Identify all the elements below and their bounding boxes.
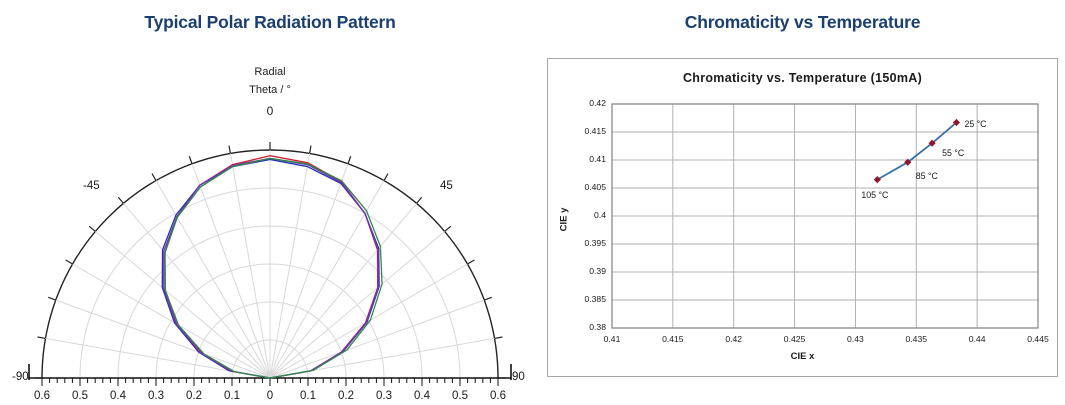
polar-radius-tick-11: 0.5 [445, 390, 475, 402]
polar-plot: Radial Theta / ° 0 -45 45 -90 90 0.60.50… [0, 50, 540, 405]
page-title-polar: Typical Polar Radiation Pattern [0, 12, 540, 33]
x-axis-tick-0: 0.41 [592, 334, 632, 344]
polar-radius-tick-7: 0.1 [293, 390, 323, 402]
y-axis-tick-0: 0.42 [566, 98, 606, 108]
data-point-label-2: 55 °C [942, 148, 964, 158]
y-axis-tick-1: 0.415 [566, 126, 606, 136]
polar-radius-tick-3: 0.3 [141, 390, 171, 402]
y-axis-tick-5: 0.395 [566, 238, 606, 248]
polar-radius-tick-12: 0.6 [483, 390, 513, 402]
y-axis-tick-7: 0.385 [566, 294, 606, 304]
x-axis-tick-7: 0.445 [1018, 334, 1058, 344]
polar-radius-tick-9: 0.3 [369, 390, 399, 402]
x-axis-tick-4: 0.43 [835, 334, 875, 344]
data-point-label-0: 105 °C [861, 190, 888, 200]
x-axis-tick-5: 0.435 [896, 334, 936, 344]
polar-radius-tick-5: 0.1 [217, 390, 247, 402]
chromaticity-chart-panel: Chromaticity vs Temperature Chromaticity… [540, 0, 1065, 405]
polar-graphic [0, 50, 540, 405]
y-axis-tick-6: 0.39 [566, 266, 606, 276]
polar-radius-tick-8: 0.2 [331, 390, 361, 402]
polar-radius-tick-6: 0 [255, 390, 285, 402]
polar-radius-tick-2: 0.4 [103, 390, 133, 402]
page-title-chromaticity: Chromaticity vs Temperature [540, 12, 1065, 33]
y-axis-tick-4: 0.4 [566, 210, 606, 220]
chromaticity-frame: Chromaticity vs. Temperature (150mA) CIE… [547, 58, 1058, 377]
chromaticity-graphic [548, 59, 1057, 376]
x-axis-tick-1: 0.415 [653, 334, 693, 344]
polar-radius-tick-1: 0.5 [65, 390, 95, 402]
x-axis-tick-6: 0.44 [957, 334, 997, 344]
y-axis-tick-8: 0.38 [566, 322, 606, 332]
polar-chart-panel: Typical Polar Radiation Pattern Radial T… [0, 0, 540, 405]
x-axis-label: CIE x [548, 351, 1057, 362]
x-axis-tick-3: 0.425 [775, 334, 815, 344]
data-point-label-1: 85 °C [916, 171, 938, 181]
polar-radius-tick-4: 0.2 [179, 390, 209, 402]
y-axis-tick-2: 0.41 [566, 154, 606, 164]
polar-radius-tick-0: 0.6 [27, 390, 57, 402]
data-point-label-3: 25 °C [964, 119, 986, 129]
polar-radius-tick-10: 0.4 [407, 390, 437, 402]
x-axis-tick-2: 0.42 [714, 334, 754, 344]
y-axis-tick-3: 0.405 [566, 182, 606, 192]
